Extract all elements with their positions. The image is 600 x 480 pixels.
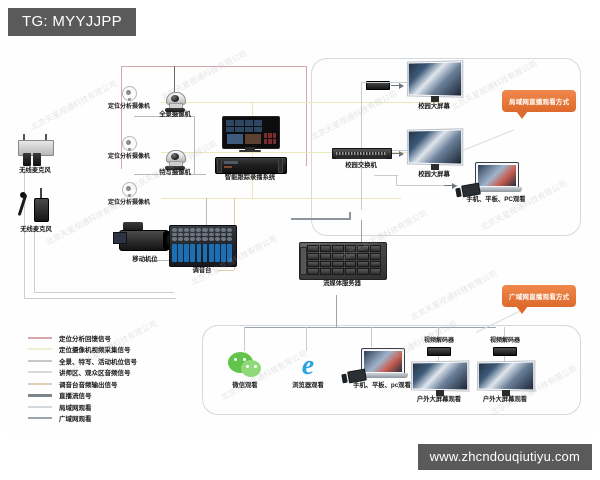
led-screen-icon (476, 362, 534, 396)
legend-swatch (28, 383, 52, 385)
legend-row: 定位摄像机视频采集信号 (28, 344, 137, 356)
analysis-camera-icon (121, 136, 137, 150)
node-browser-view[interactable]: e 浏览器观看 (282, 352, 334, 390)
legend-row: 广域网观看 (28, 413, 137, 425)
wire-server-to-wan (336, 295, 337, 327)
telegram-watermark-badge: TG: MYYJJPP (8, 8, 136, 36)
node-analysis-camera-1[interactable]: 定位分析摄像机 (94, 86, 164, 110)
legend-label: 局域网观看 (59, 402, 92, 412)
node-label: 定位分析摄像机 (94, 197, 164, 206)
legend-row: 讲师区、观众区音频信号 (28, 367, 137, 379)
legend-swatch (28, 394, 52, 397)
node-analysis-camera-3[interactable]: 定位分析摄像机 (94, 182, 164, 206)
wire-feedback-right (306, 66, 307, 166)
node-wireless-mic-1[interactable]: 无线麦克风 (10, 140, 60, 175)
analysis-camera-icon (121, 86, 137, 100)
callout-label: 广域网直播观看方式 (509, 291, 569, 301)
ptz-camera-icon (164, 92, 186, 112)
wire-switch-right-down (396, 175, 397, 186)
ptz-camera-icon (164, 150, 186, 170)
legend-label: 直播流信号 (59, 390, 92, 400)
node-label: 特写摄像机 (152, 170, 199, 177)
legend-swatch (28, 371, 52, 373)
wire-mic-1-down (24, 170, 25, 298)
node-label: 定位分析摄像机 (94, 101, 164, 110)
node-campus-screen-1[interactable]: 校园大屏幕 (404, 62, 464, 111)
legend-row: 局域网观看 (28, 401, 137, 413)
node-label: 流媒体服务器 (293, 281, 391, 288)
led-screen-icon (406, 130, 462, 170)
node-label: 微信观看 (217, 383, 272, 390)
node-label: 视频解码器 (478, 335, 532, 344)
node-label: 校园大屏幕 (403, 172, 464, 179)
legend-row: 定位分析回馈信号 (28, 332, 137, 344)
node-label: 调音台 (151, 268, 253, 275)
node-wechat-view[interactable]: 微信观看 (218, 352, 272, 390)
legend-row: 调音台音频输出信号 (28, 378, 137, 390)
node-label: 定位分析摄像机 (94, 151, 164, 160)
analysis-camera-icon (121, 182, 137, 196)
node-campus-switch[interactable]: 校园交换机 (332, 148, 390, 170)
wire-switch-right (374, 175, 398, 176)
node-label: 手机、平板、PC观看 (457, 197, 535, 204)
wire-wan-wechat (244, 327, 245, 351)
wire-mic-2-right (34, 292, 174, 293)
node-label: 户外大屏幕观看 (471, 397, 538, 404)
diagram-canvas: 北京天星视通科技有限公司 北京天星视通科技有限公司 北京天星视通科技有限公司 北… (6, 40, 594, 435)
wire-stream-up (349, 212, 351, 220)
node-streaming-server[interactable]: 流媒体服务器 (294, 242, 390, 288)
legend-swatch (28, 360, 52, 362)
node-label: 智能跟踪录播系统 (201, 175, 299, 182)
legend-label: 讲师区、观众区音频信号 (59, 367, 131, 377)
site-url-watermark: www.zhcndouqiutiyu.com (418, 444, 592, 470)
legend-label: 全景、特写、活动机位信号 (59, 356, 137, 366)
recorder-chassis-icon (215, 157, 285, 172)
node-label: 无线麦克风 (10, 168, 61, 175)
laptop-icon (356, 348, 408, 380)
node-label: 视频解码器 (412, 335, 466, 344)
led-screen-icon (410, 362, 468, 396)
node-label: 无线麦克风 (12, 227, 61, 234)
audio-mixer-icon (169, 225, 235, 265)
decoder-box-icon (493, 347, 517, 356)
node-analysis-camera-2[interactable]: 定位分析摄像机 (94, 136, 164, 160)
wire-wan-devices (371, 327, 372, 347)
arrow-to-lan-devices (444, 185, 456, 186)
node-label: 浏览器观看 (281, 383, 334, 390)
node-wireless-mic-2[interactable]: 无线麦克风 (12, 192, 60, 234)
wire-analysis-video-1 (161, 102, 444, 103)
wire-analysis-video-3 (161, 198, 401, 199)
wireless-mic-receiver-icon (18, 140, 52, 166)
legend-label: 定位摄像机视频采集信号 (59, 344, 131, 354)
legend-swatch (28, 406, 52, 408)
legend-swatch (28, 417, 52, 419)
legend: 定位分析回馈信号 定位摄像机视频采集信号 全景、特写、活动机位信号 讲师区、观众… (28, 332, 137, 424)
lan-callout-bubble: 局域网直播观看方式 (502, 90, 576, 112)
legend-swatch (28, 348, 52, 350)
node-recording-system[interactable]: 智能跟踪录播系统 (202, 116, 298, 182)
node-video-decoder-2[interactable]: 视频解码器 (478, 335, 532, 356)
node-label: 校园交换机 (331, 163, 390, 170)
streaming-server-icon (299, 242, 385, 278)
node-outdoor-screen-2[interactable]: 户外大屏幕观看 (472, 362, 538, 404)
wire-feedback-top (121, 66, 306, 67)
node-video-decoder-1[interactable]: 视频解码器 (412, 335, 466, 356)
wire-stream-rec-to-switch (291, 218, 349, 220)
wire-mic-1-right (24, 298, 176, 299)
wan-callout-bubble: 广域网直播观看方式 (502, 285, 576, 307)
preview-monitor-icon (222, 116, 278, 152)
network-switch-icon (332, 148, 390, 159)
legend-swatch (28, 337, 52, 339)
node-label: 全景摄像机 (152, 112, 199, 119)
wire-switch-up (361, 82, 362, 210)
legend-label: 调音台音频输出信号 (59, 379, 118, 389)
internet-explorer-icon: e (293, 352, 323, 380)
node-campus-screen-2[interactable]: 校园大屏幕 (404, 130, 464, 179)
node-outdoor-screen-1[interactable]: 户外大屏幕观看 (406, 362, 472, 404)
legend-row: 全景、特写、活动机位信号 (28, 355, 137, 367)
wireless-bodypack-icon (21, 192, 51, 226)
callout-label: 局域网直播观看方式 (509, 96, 569, 106)
led-screen-icon (406, 62, 462, 102)
laptop-icon (470, 162, 522, 194)
wechat-icon (228, 352, 262, 380)
node-audio-mixer[interactable]: 调音台 (152, 225, 252, 275)
legend-label: 定位分析回馈信号 (59, 333, 111, 343)
node-lan-devices[interactable]: 手机、平板、PC观看 (458, 162, 534, 204)
arrow-to-screen-1 (391, 85, 403, 86)
node-label: 校园大屏幕 (403, 104, 464, 111)
wire-wan-bus (244, 327, 496, 328)
wire-mic-2-down (34, 230, 35, 292)
wire-wan-browser (306, 327, 307, 351)
node-label: 户外大屏幕观看 (405, 397, 472, 404)
arrow-to-screen-2 (391, 153, 403, 154)
legend-row: 直播流信号 (28, 390, 137, 402)
legend-label: 广域网观看 (59, 413, 92, 423)
watermark-text: 北京天星视通科技有限公司 (409, 268, 499, 323)
decoder-box-icon (427, 347, 451, 356)
